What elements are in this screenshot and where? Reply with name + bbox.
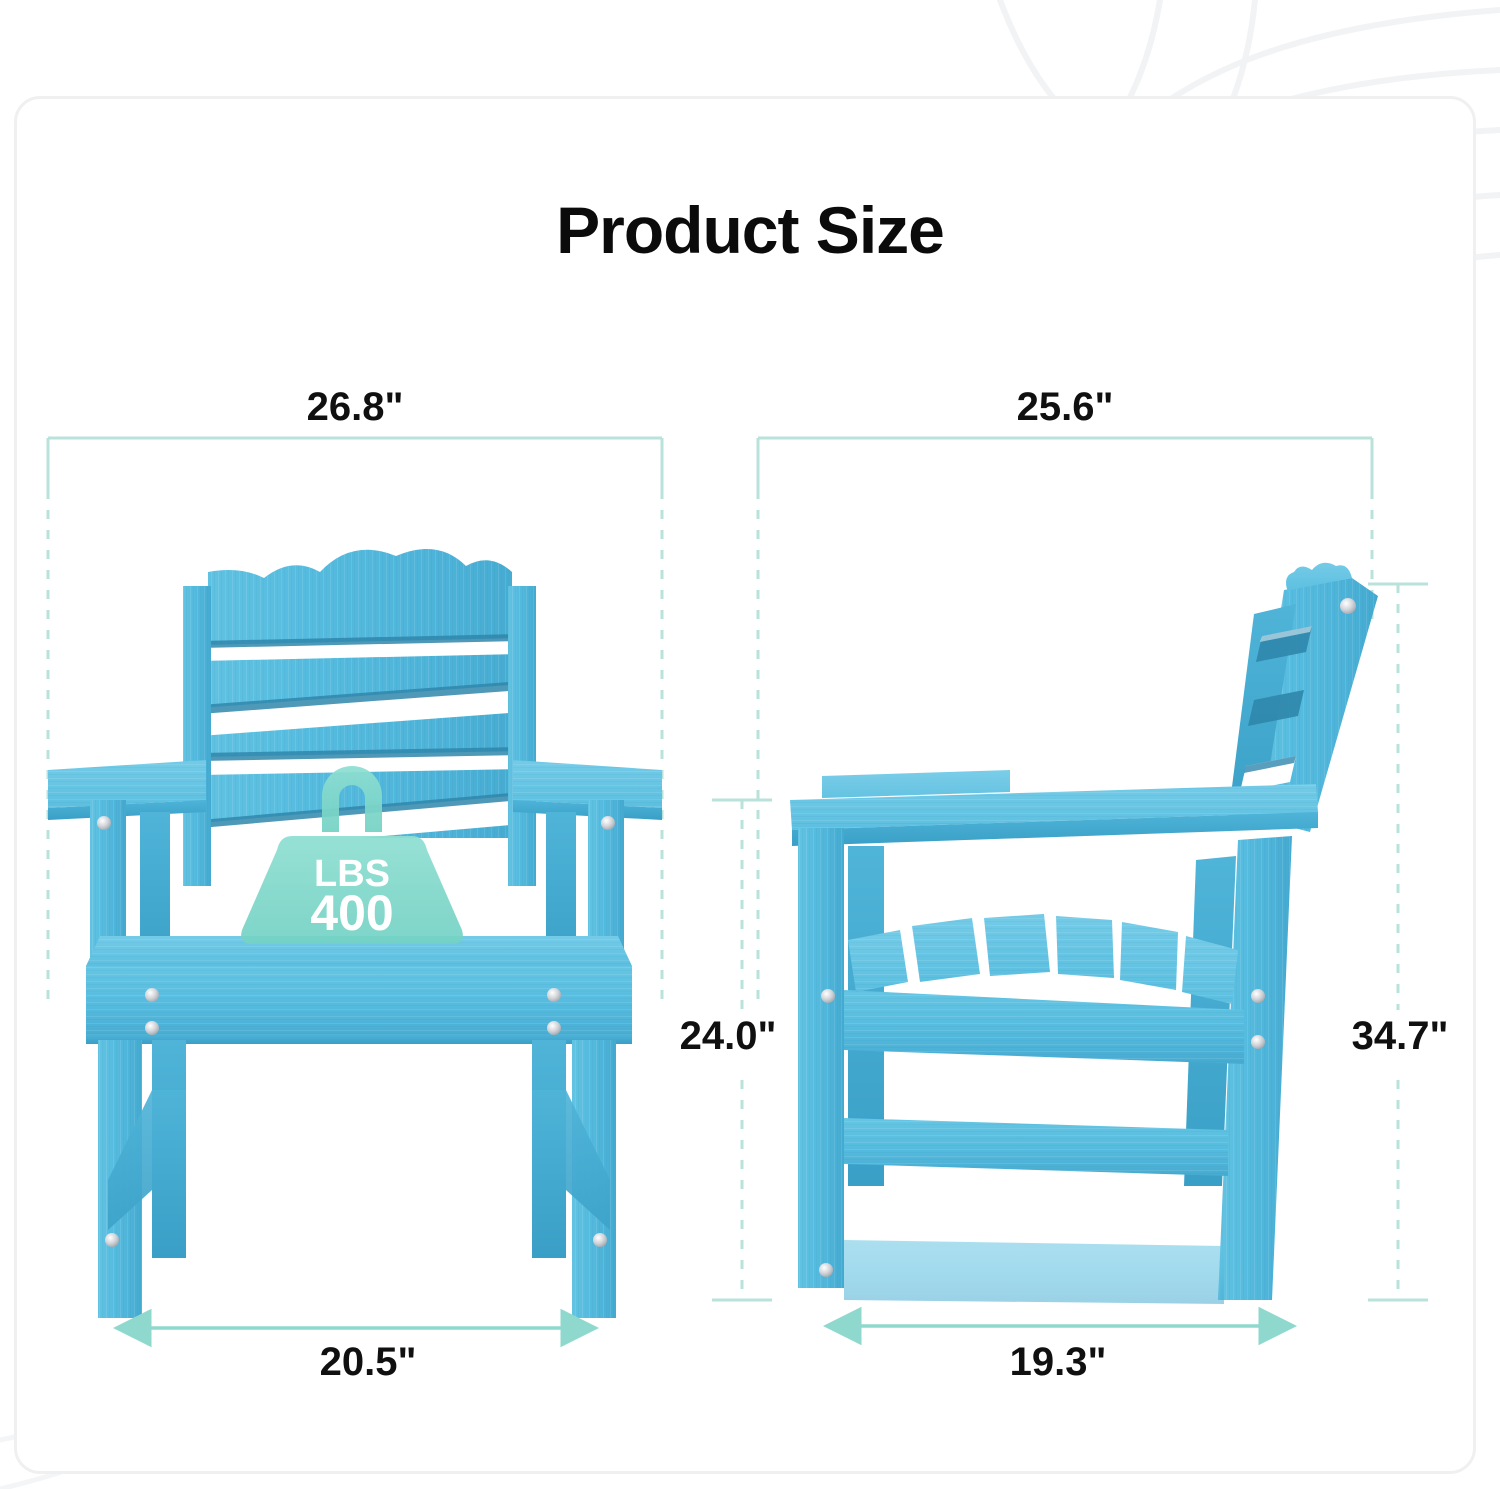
total-height-dimension-line <box>1368 584 1428 1300</box>
seat-height-label: 24.0" <box>680 1014 777 1059</box>
seat-slats <box>848 914 1238 1004</box>
side-width-label: 25.6" <box>1017 385 1114 430</box>
side-depth-label: 19.3" <box>1010 1340 1107 1385</box>
side-view-chair <box>790 563 1378 1304</box>
front-depth-label: 20.5" <box>320 1340 417 1385</box>
left-armrest <box>48 760 206 820</box>
front-width-label: 26.8" <box>307 385 404 430</box>
front-legs <box>98 1040 616 1318</box>
badge-capacity-value: 400 <box>310 885 393 941</box>
page-title: Product Size <box>0 192 1500 268</box>
total-height-label: 34.7" <box>1352 1014 1449 1059</box>
right-armrest <box>513 760 662 820</box>
